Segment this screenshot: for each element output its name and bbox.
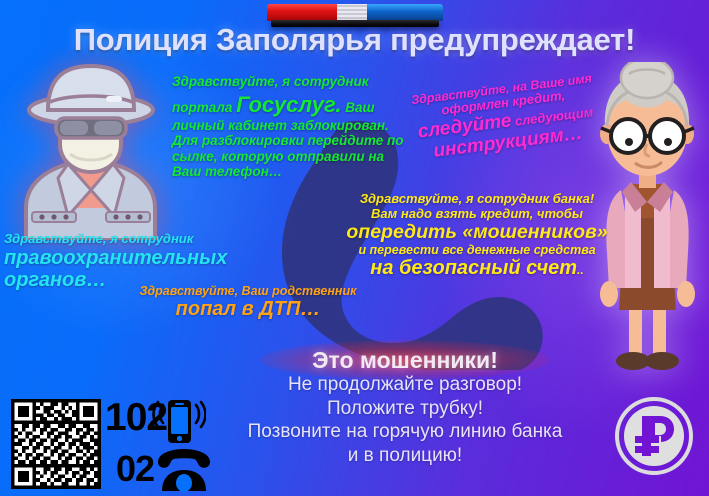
warning-block: Это мошенники! Не продолжайте разговор! … [205,348,605,467]
speech-gosuslugi: Здравствуйте, я сотрудник портала Госусл… [172,74,404,180]
speech-dtp-line1: Здравствуйте, Ваш родственник [128,284,368,298]
ruble-coin-icon [614,396,694,476]
speech-bank-line1: Здравствуйте, я сотрудник банка! [334,192,620,207]
speech-bank-trailing: .. [577,263,584,277]
warning-line-2: Положите трубку! [205,397,605,421]
warning-line-1: Не продолжайте разговор! [205,373,605,397]
landline-phone-icon [152,449,216,493]
speech-gosuslugi-prefix: портала [172,100,236,115]
speech-dtp-emphasis: попал в ДТП… [128,298,368,320]
fraudster-character-icon [8,58,173,240]
speech-bank-line3: и перевести все денежные средства [334,243,620,257]
warning-headline: Это мошенники! [205,348,605,373]
poster-canvas: Полиция Заполярья предупреждает! [0,0,709,496]
landline-emergency-number: 02 [116,448,154,490]
lightbar-red-segment [267,4,337,21]
speech-credit-line3-prefix: следующим [514,104,594,128]
speech-gosuslugi-emphasis: Госуслуг. [236,92,341,117]
speech-bank-emphasis2: на безопасный счет [370,257,577,279]
poster-title: Полиция Заполярья предупреждает! [0,22,709,58]
lightbar-body [267,4,443,21]
speech-credit: Здравствуйте, на Ваше имя оформлен креди… [394,69,615,166]
lightbar-white-segment [337,4,367,21]
speech-bank: Здравствуйте, я сотрудник банка! Вам над… [334,192,620,280]
speech-bank-emphasis2-wrap: на безопасный счет.. [334,257,620,280]
lightbar-blue-segment [367,4,443,21]
speech-gosuslugi-line1: Здравствуйте, я сотрудник [172,74,404,89]
qr-code-icon[interactable] [11,399,101,489]
speech-law-line1: Здравствуйте, я сотрудник [4,232,219,247]
speech-dtp: Здравствуйте, Ваш родственник попал в ДТ… [128,284,368,320]
warning-line-3: Позвоните на горячую линию банка [205,420,605,444]
speech-law-enforcement: Здравствуйте, я сотрудник правоохранител… [4,232,219,291]
mobile-phone-icon [152,396,206,446]
speech-bank-line2: Вам надо взять кредит, чтобы [334,207,620,222]
speech-bank-emphasis1: опередить «мошенников» [334,222,620,243]
warning-line-4: и в полицию! [205,444,605,468]
